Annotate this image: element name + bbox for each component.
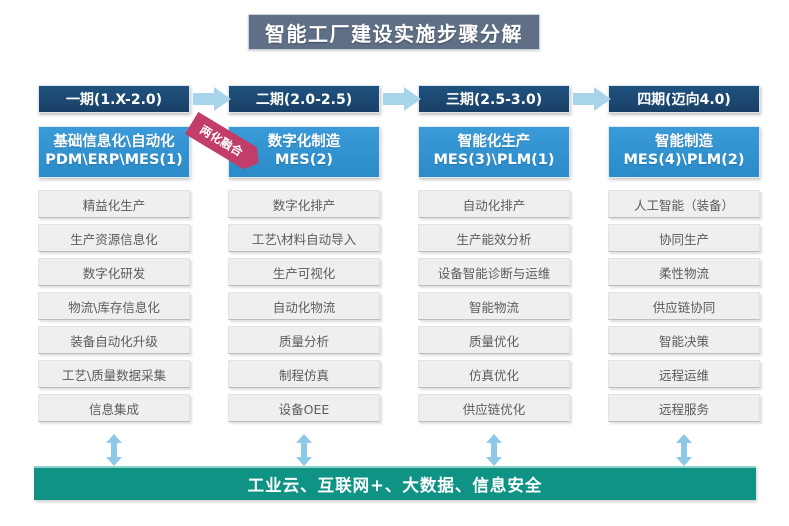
- list-item-label: 供应链协同: [653, 297, 716, 316]
- foundation-bar[interactable]: 工业云、互联网+、大数据、信息安全: [34, 466, 756, 500]
- phase-header-3[interactable]: 三期(2.5-3.0): [418, 85, 570, 113]
- list-item[interactable]: 智能决策: [608, 326, 760, 354]
- diagram-title: 智能工厂建设实施步骤分解: [248, 14, 540, 50]
- phase-header-1-label: 一期(1.X-2.0): [66, 89, 162, 109]
- list-item-label: 协同生产: [659, 229, 709, 248]
- foundation-bar-label: 工业云、互联网+、大数据、信息安全: [248, 472, 543, 496]
- list-item[interactable]: 供应链协同: [608, 292, 760, 320]
- list-item[interactable]: 装备自动化升级: [38, 326, 190, 354]
- list-item[interactable]: 智能物流: [418, 292, 570, 320]
- list-item[interactable]: 精益化生产: [38, 190, 190, 218]
- list-item[interactable]: 制程仿真: [228, 360, 380, 388]
- phase-box-3-line2: MES(3)\PLM(1): [433, 152, 554, 170]
- arrow-up-down-icon-3: [485, 434, 503, 466]
- diagram-canvas: 智能工厂建设实施步骤分解 一期(1.X-2.0) 二期(2.0-2.5) 三期(…: [0, 0, 789, 526]
- arrow-up-down-icon-4: [675, 434, 693, 466]
- phase-box-1[interactable]: 基础信息化\自动化 PDM\ERP\MES(1): [38, 126, 190, 178]
- list-item[interactable]: 物流\库存信息化: [38, 292, 190, 320]
- list-item[interactable]: 柔性物流: [608, 258, 760, 286]
- list-item[interactable]: 人工智能（装备）: [608, 190, 760, 218]
- list-item[interactable]: 仿真优化: [418, 360, 570, 388]
- list-item-label: 供应链优化: [463, 399, 526, 418]
- item-column-2: 数字化排产 工艺\材料自动导入 生产可视化 自动化物流 质量分析 制程仿真 设备…: [228, 190, 380, 422]
- list-item-label: 信息集成: [89, 399, 139, 418]
- phase-header-1[interactable]: 一期(1.X-2.0): [38, 85, 190, 113]
- arrow-right-icon-2: [383, 86, 421, 112]
- list-item-label: 设备OEE: [279, 399, 330, 418]
- list-item-label: 柔性物流: [659, 263, 709, 282]
- list-item[interactable]: 设备OEE: [228, 394, 380, 422]
- list-item-label: 数字化排产: [273, 195, 336, 214]
- list-item-label: 生产可视化: [273, 263, 336, 282]
- list-item-label: 精益化生产: [83, 195, 146, 214]
- arrow-up-down-icon-2: [295, 434, 313, 466]
- list-item-label: 仿真优化: [469, 365, 519, 384]
- list-item-label: 物流\库存信息化: [68, 297, 160, 316]
- phase-box-2-line2: MES(2): [275, 152, 333, 170]
- list-item-label: 自动化物流: [273, 297, 336, 316]
- arrow-right-icon-3: [573, 86, 611, 112]
- list-item-label: 设备智能诊断与运维: [438, 263, 551, 282]
- list-item-label: 质量优化: [469, 331, 519, 350]
- list-item[interactable]: 工艺\材料自动导入: [228, 224, 380, 252]
- diagram-title-text: 智能工厂建设实施步骤分解: [265, 18, 523, 47]
- phase-box-3[interactable]: 智能化生产 MES(3)\PLM(1): [418, 126, 570, 178]
- list-item[interactable]: 生产可视化: [228, 258, 380, 286]
- phase-box-1-line1: 基础信息化\自动化: [53, 134, 174, 152]
- list-item-label: 工艺\材料自动导入: [252, 229, 356, 248]
- list-item-label: 质量分析: [279, 331, 329, 350]
- item-column-1: 精益化生产 生产资源信息化 数字化研发 物流\库存信息化 装备自动化升级 工艺\…: [38, 190, 190, 422]
- list-item[interactable]: 工艺\质量数据采集: [38, 360, 190, 388]
- phase-box-4[interactable]: 智能制造 MES(4)\PLM(2): [608, 126, 760, 178]
- list-item[interactable]: 设备智能诊断与运维: [418, 258, 570, 286]
- list-item-label: 生产能效分析: [456, 229, 531, 248]
- phase-header-3-label: 三期(2.5-3.0): [446, 89, 542, 109]
- list-item-label: 生产资源信息化: [70, 229, 158, 248]
- list-item[interactable]: 生产资源信息化: [38, 224, 190, 252]
- list-item[interactable]: 供应链优化: [418, 394, 570, 422]
- list-item-label: 数字化研发: [83, 263, 146, 282]
- list-item-label: 远程服务: [659, 399, 709, 418]
- list-item[interactable]: 数字化排产: [228, 190, 380, 218]
- item-column-3: 自动化排产 生产能效分析 设备智能诊断与运维 智能物流 质量优化 仿真优化 供应…: [418, 190, 570, 422]
- phase-header-4-label: 四期(迈向4.0): [637, 89, 731, 109]
- list-item-label: 装备自动化升级: [70, 331, 158, 350]
- arrow-right-icon-1: [193, 86, 231, 112]
- list-item-label: 自动化排产: [463, 195, 526, 214]
- list-item[interactable]: 远程服务: [608, 394, 760, 422]
- list-item[interactable]: 远程运维: [608, 360, 760, 388]
- list-item[interactable]: 质量优化: [418, 326, 570, 354]
- list-item-label: 智能决策: [659, 331, 709, 350]
- list-item-label: 制程仿真: [279, 365, 329, 384]
- list-item-label: 人工智能（装备）: [634, 195, 734, 214]
- phase-box-2-line1: 数字化制造: [268, 134, 341, 152]
- item-column-4: 人工智能（装备） 协同生产 柔性物流 供应链协同 智能决策 远程运维 远程服务: [608, 190, 760, 422]
- list-item[interactable]: 自动化物流: [228, 292, 380, 320]
- arrow-up-down-icon-1: [105, 434, 123, 466]
- phase-box-4-line1: 智能制造: [655, 134, 713, 152]
- phase-header-2-label: 二期(2.0-2.5): [256, 89, 352, 109]
- phase-box-1-line2: PDM\ERP\MES(1): [45, 152, 183, 170]
- phase-header-4[interactable]: 四期(迈向4.0): [608, 85, 760, 113]
- list-item[interactable]: 质量分析: [228, 326, 380, 354]
- phase-box-4-line2: MES(4)\PLM(2): [623, 152, 744, 170]
- list-item[interactable]: 自动化排产: [418, 190, 570, 218]
- phase-box-3-line1: 智能化生产: [458, 134, 531, 152]
- list-item[interactable]: 协同生产: [608, 224, 760, 252]
- phase-header-2[interactable]: 二期(2.0-2.5): [228, 85, 380, 113]
- list-item[interactable]: 信息集成: [38, 394, 190, 422]
- list-item-label: 远程运维: [659, 365, 709, 384]
- list-item-label: 智能物流: [469, 297, 519, 316]
- list-item-label: 工艺\质量数据采集: [62, 365, 166, 384]
- list-item[interactable]: 生产能效分析: [418, 224, 570, 252]
- list-item[interactable]: 数字化研发: [38, 258, 190, 286]
